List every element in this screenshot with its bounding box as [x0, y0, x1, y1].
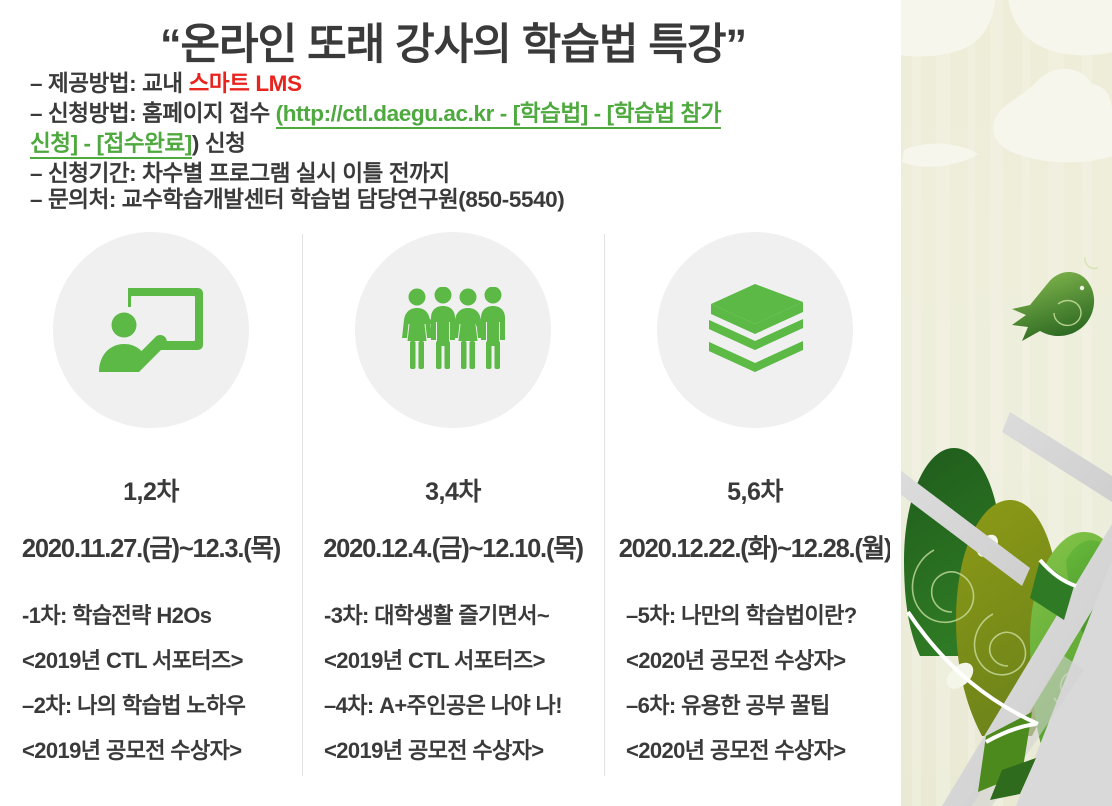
session-line: –6차: 유용한 공부 꿀팁	[626, 695, 830, 717]
info-line-apply-method-continued: 신청] - [접수완료]) 신청	[30, 126, 245, 158]
session-column-2: 3,4차 2020.12.4.(금)~12.10.(목) -3차: 대학생활 즐…	[302, 228, 604, 788]
icon-badge-1	[53, 232, 249, 428]
session-column-3: 5,6차 2020.12.22.(화)~12.28.(월) –5차: 나만의 학…	[604, 228, 906, 788]
date-label-2: 2020.12.4.(금)~12.10.(목)	[323, 528, 583, 565]
session-line: <2019년 CTL 서포터즈>	[324, 650, 545, 672]
info-line-contact: – 문의처: 교수학습개발센터 학습법 담당연구원(850-5540)	[30, 182, 564, 214]
session-list-2: -3차: 대학생활 즐기면서~ <2019년 CTL 서포터즈> –4차: A+…	[302, 605, 604, 762]
poster-canvas: “온라인 또래 강사의 학습법 특강” – 제공방법: 교내 스마트 LMS –…	[0, 0, 1112, 806]
apply-method-suffix: ) 신청	[192, 131, 246, 156]
round-label-1: 1,2차	[123, 472, 179, 508]
apply-method-label: – 신청방법: 홈페이지 접수	[30, 101, 276, 126]
session-line: –4차: A+주인공은 나야 나!	[324, 695, 562, 717]
session-line: –5차: 나만의 학습법이란?	[626, 605, 857, 627]
nature-scene-svg	[890, 0, 1112, 806]
session-line: –2차: 나의 학습법 노하우	[22, 695, 245, 717]
session-line: <2019년 CTL 서포터즈>	[22, 650, 243, 672]
presentation-board-icon	[95, 282, 207, 378]
session-list-1: -1차: 학습전략 H2Os <2019년 CTL 서포터즈> –2차: 나의 …	[0, 605, 302, 762]
poster-header: “온라인 또래 강사의 학습법 특강” – 제공방법: 교내 스마트 LMS –…	[0, 0, 906, 222]
date-label-3: 2020.12.22.(화)~12.28.(월)	[619, 528, 892, 565]
icon-badge-2	[355, 232, 551, 428]
session-line: -3차: 대학생활 즐기면서~	[324, 605, 549, 627]
provide-method-label: – 제공방법: 교내	[30, 71, 189, 96]
session-columns: 1,2차 2020.11.27.(금)~12.3.(목) -1차: 학습전략 H…	[0, 228, 906, 788]
session-line: <2019년 공모전 수상자>	[22, 740, 242, 762]
info-line-provide-method: – 제공방법: 교내 스마트 LMS	[30, 66, 302, 98]
decorative-nature-artwork	[890, 0, 1112, 806]
session-list-3: –5차: 나만의 학습법이란? <2020년 공모전 수상자> –6차: 유용한…	[604, 605, 906, 762]
people-group-icon	[400, 287, 506, 373]
book-stack-icon	[703, 282, 807, 378]
icon-badge-3	[657, 232, 853, 428]
session-column-1: 1,2차 2020.11.27.(금)~12.3.(목) -1차: 학습전략 H…	[0, 228, 302, 788]
date-label-1: 2020.11.27.(금)~12.3.(목)	[22, 528, 280, 565]
session-line: <2019년 공모전 수상자>	[324, 740, 544, 762]
page-title: “온라인 또래 강사의 학습법 특강”	[0, 10, 906, 72]
session-line: <2020년 공모전 수상자>	[626, 650, 846, 672]
provide-method-value: 스마트 LMS	[189, 71, 302, 96]
session-line: <2020년 공모전 수상자>	[626, 740, 846, 762]
round-label-2: 3,4차	[425, 472, 481, 508]
session-line: -1차: 학습전략 H2Os	[22, 605, 211, 627]
info-line-apply-method: – 신청방법: 홈페이지 접수 (http://ctl.daegu.ac.kr …	[30, 96, 721, 128]
apply-url-link-continued[interactable]: 신청] - [접수완료]	[30, 131, 192, 159]
round-label-3: 5,6차	[727, 472, 783, 508]
apply-url-link[interactable]: (http://ctl.daegu.ac.kr - [학습법] - [학습법 참…	[276, 101, 721, 129]
